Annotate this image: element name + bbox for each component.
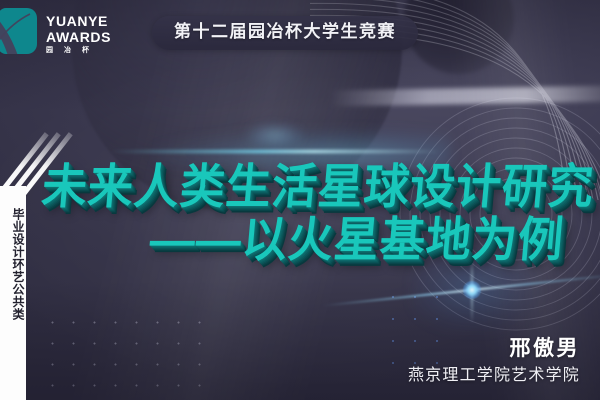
title-block: 未来人类生活星球设计研究 ——以火星基地为例 — [0, 162, 600, 266]
logo-line-yuanye: YUANYE — [46, 14, 111, 28]
poster-title: 未来人类生活星球设计研究 — [40, 161, 600, 214]
logo-cn-char-3: 杯 — [82, 47, 89, 55]
poster-subtitle: ——以火星基地为例 — [148, 212, 600, 267]
competition-banner-label: 第十二届园冶杯大学生竞赛 — [174, 22, 396, 42]
competition-banner: 第十二届园冶杯大学生竞赛 — [152, 16, 418, 50]
logo-line-awards: AWARDS — [46, 30, 111, 44]
poster-canvas: YUANYE AWARDS 园 冶 杯 第十二届园冶杯大学生竞赛 毕业设计环艺公… — [0, 0, 600, 400]
logo-chinese-chars: 园 冶 杯 — [46, 47, 111, 55]
author-block: 邢傲男 燕京理工学院艺术学院 — [408, 336, 580, 386]
author-name: 邢傲男 — [408, 336, 580, 362]
author-school: 燕京理工学院艺术学院 — [408, 366, 580, 386]
logo-cn-char-1: 园 — [46, 47, 53, 55]
yuanye-awards-logo: YUANYE AWARDS 园 冶 杯 — [6, 8, 111, 55]
logo-wordmark: YUANYE AWARDS 园 冶 杯 — [46, 8, 111, 55]
yuanye-leaf-mark-icon — [0, 8, 37, 54]
logo-cn-char-2: 冶 — [64, 47, 71, 55]
